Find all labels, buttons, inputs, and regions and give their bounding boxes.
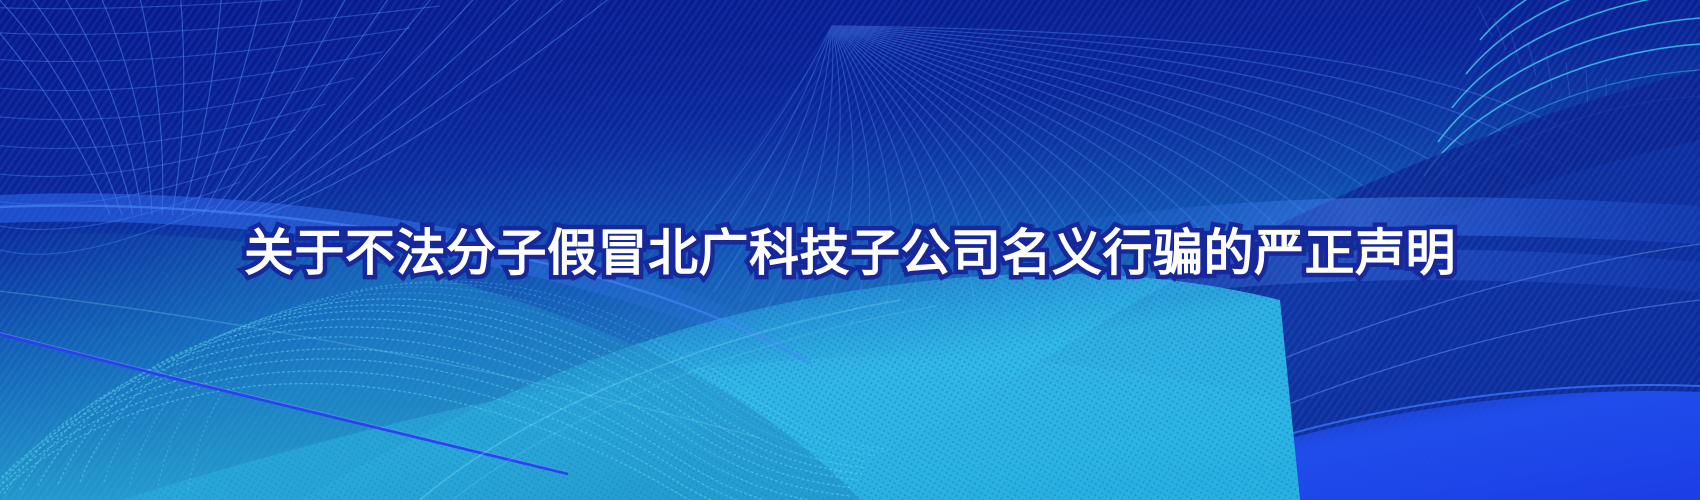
announcement-banner: 关于不法分子假冒北广科技子公司名义行骗的严正声明 — [0, 0, 1700, 500]
center-glow — [0, 0, 1700, 500]
